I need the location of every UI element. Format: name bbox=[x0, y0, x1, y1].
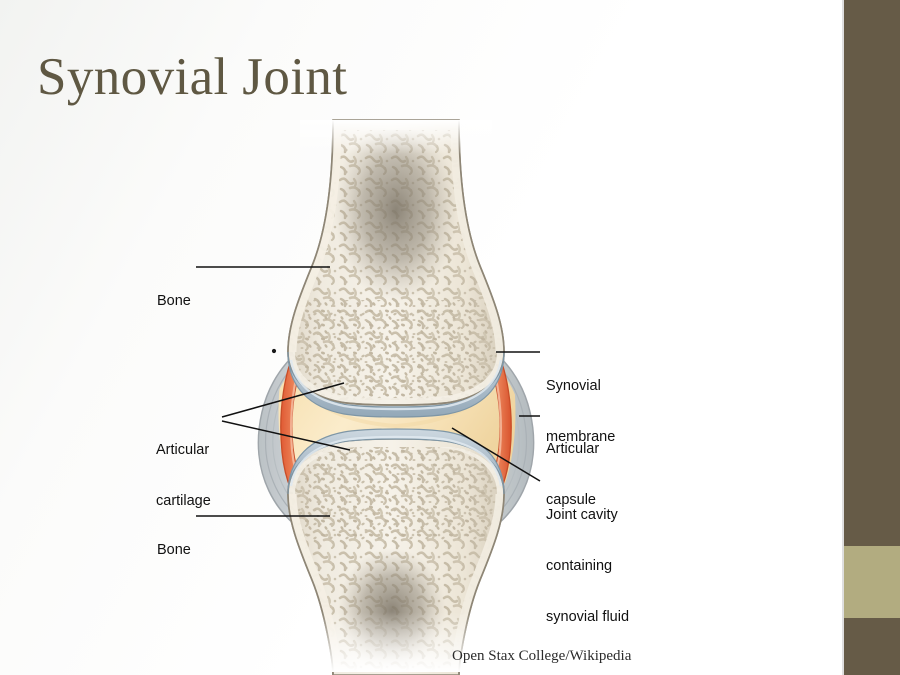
label-joint-cavity-line2: containing bbox=[546, 558, 629, 575]
label-joint-cavity: Joint cavity containing synovial fluid bbox=[546, 473, 629, 660]
label-synovial-membrane-line1: Synovial bbox=[546, 378, 615, 395]
label-joint-cavity-line1: Joint cavity bbox=[546, 507, 629, 524]
label-bone-bottom: Bone bbox=[157, 508, 191, 593]
label-articular-cartilage-line1: Articular bbox=[156, 442, 211, 459]
sidebar-band-top bbox=[844, 0, 900, 546]
upper-bone bbox=[288, 118, 504, 410]
sidebar-band-middle bbox=[844, 546, 900, 618]
label-bone-bottom-line1: Bone bbox=[157, 542, 191, 559]
top-fade bbox=[300, 120, 492, 154]
slide-canvas: Synovial Joint Bone Articular cartilage … bbox=[0, 0, 900, 675]
dot-artifact bbox=[272, 349, 276, 353]
label-articular-capsule-line1: Articular bbox=[546, 441, 599, 458]
decorative-sidebar bbox=[844, 0, 900, 675]
sidebar-band-bottom bbox=[844, 618, 900, 675]
label-joint-cavity-line3: synovial fluid bbox=[546, 609, 629, 626]
source-caption: Open Stax College/Wikipedia bbox=[452, 648, 631, 665]
label-bone-top-line1: Bone bbox=[157, 293, 191, 310]
label-bone-top: Bone bbox=[157, 259, 191, 344]
slide-title: Synovial Joint bbox=[37, 47, 347, 107]
